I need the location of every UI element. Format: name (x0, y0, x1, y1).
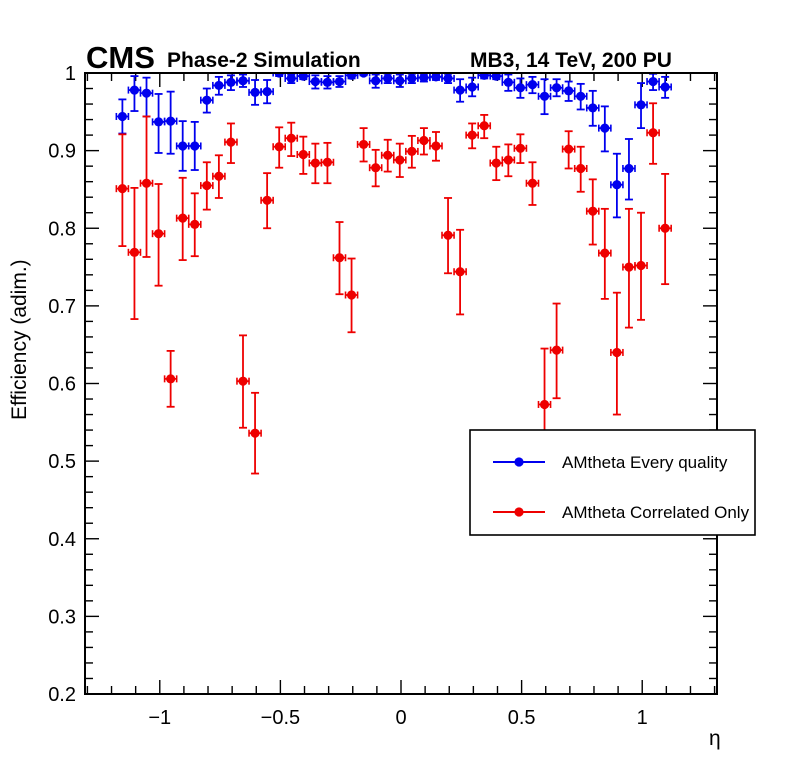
y-tick-label: 0.3 (48, 606, 76, 628)
data-point-marker (661, 82, 670, 91)
data-point-marker (371, 163, 380, 172)
data-point-marker (190, 141, 199, 150)
data-point-marker (407, 147, 416, 156)
data-point-marker (504, 78, 513, 87)
data-point-marker (468, 82, 477, 91)
plot-canvas: CMS Phase-2 Simulation MB3, 14 TeV, 200 … (0, 0, 796, 772)
data-point-marker (359, 140, 368, 149)
data-point-marker (600, 248, 609, 257)
data-point-marker (600, 124, 609, 133)
data-point-marker (383, 151, 392, 160)
data-point-marker (552, 83, 561, 92)
series-correlated-only (116, 103, 671, 473)
x-tick-label: 0.5 (508, 707, 536, 729)
cms-logo-text: CMS (86, 40, 155, 75)
legend-marker-icon (514, 507, 523, 516)
data-point-marker (516, 83, 525, 92)
data-point-marker (202, 96, 211, 105)
data-point-marker (528, 80, 537, 89)
x-tick-label: 0 (395, 707, 406, 729)
data-point-marker (154, 117, 163, 126)
data-point-marker (516, 144, 525, 153)
data-point-marker (166, 374, 175, 383)
y-tick-label: 0.4 (48, 529, 76, 551)
data-point-marker (564, 86, 573, 95)
data-point-marker (624, 262, 633, 271)
data-point-marker (395, 155, 404, 164)
x-axis-tick-labels: −1−0.500.51 (148, 707, 647, 729)
data-point-marker (395, 76, 404, 85)
data-point-marker (492, 158, 501, 167)
data-point-marker (648, 77, 657, 86)
data-point-marker (214, 81, 223, 90)
data-point-marker (636, 100, 645, 109)
data-point-marker (178, 141, 187, 150)
legend[interactable]: AMtheta Every qualityAMtheta Correlated … (470, 430, 755, 535)
data-point-marker (624, 164, 633, 173)
y-axis-tick-labels: 0.20.30.40.50.60.70.80.91 (48, 63, 76, 706)
y-tick-label: 0.6 (48, 374, 76, 396)
data-point-marker (455, 85, 464, 94)
data-point-marker (323, 158, 332, 167)
data-point-marker (287, 74, 296, 83)
data-point-marker (576, 92, 585, 101)
data-point-marker (178, 214, 187, 223)
data-point-marker (661, 224, 670, 233)
data-point-marker (130, 85, 139, 94)
data-point-marker (142, 179, 151, 188)
data-point-marker (564, 144, 573, 153)
data-point-marker (636, 261, 645, 270)
data-point-marker (504, 155, 513, 164)
data-point-marker (166, 117, 175, 126)
data-point-marker (202, 181, 211, 190)
x-tick-label: −1 (148, 707, 171, 729)
data-point-marker (443, 231, 452, 240)
data-series-layer (116, 68, 671, 473)
data-point-marker (142, 89, 151, 98)
data-point-marker (540, 400, 549, 409)
data-point-marker (118, 184, 127, 193)
y-axis-title: Efficiency (adim.) (8, 259, 31, 420)
legend-marker-icon (514, 457, 523, 466)
data-point-marker (154, 229, 163, 238)
data-point-marker (383, 74, 392, 83)
data-point-marker (323, 78, 332, 87)
y-tick-label: 0.7 (48, 296, 76, 318)
x-axis-ticks (87, 73, 714, 694)
data-point-marker (238, 377, 247, 386)
legend-label: AMtheta Correlated Only (562, 503, 750, 522)
data-point-marker (299, 150, 308, 159)
data-point-marker (335, 77, 344, 86)
data-point-marker (190, 220, 199, 229)
data-point-marker (371, 76, 380, 85)
data-point-marker (263, 196, 272, 205)
y-tick-label: 0.9 (48, 141, 76, 163)
data-point-marker (287, 134, 296, 143)
series-every-quality (116, 68, 671, 217)
data-point-marker (347, 290, 356, 299)
data-point-marker (576, 164, 585, 173)
cms-sublabel-text: Phase-2 Simulation (167, 49, 361, 72)
data-point-marker (311, 77, 320, 86)
data-point-marker (130, 248, 139, 257)
efficiency-scatter-plot: CMS Phase-2 Simulation MB3, 14 TeV, 200 … (0, 0, 796, 772)
y-tick-label: 0.2 (48, 684, 76, 706)
data-point-marker (468, 131, 477, 140)
data-point-marker (480, 121, 489, 130)
data-point-marker (250, 88, 259, 97)
data-point-marker (528, 179, 537, 188)
data-point-marker (226, 137, 235, 146)
data-point-marker (275, 142, 284, 151)
data-point-marker (250, 429, 259, 438)
data-point-marker (552, 346, 561, 355)
data-point-marker (238, 76, 247, 85)
y-tick-label: 0.5 (48, 451, 76, 473)
data-point-marker (311, 158, 320, 167)
x-tick-label: −0.5 (261, 707, 300, 729)
data-point-marker (407, 74, 416, 83)
data-point-marker (588, 103, 597, 112)
x-tick-label: 1 (637, 707, 648, 729)
data-point-marker (335, 253, 344, 262)
data-point-marker (612, 348, 621, 357)
y-tick-label: 1 (65, 63, 76, 85)
data-point-marker (648, 128, 657, 137)
data-point-marker (588, 207, 597, 216)
data-point-marker (226, 78, 235, 87)
data-point-marker (540, 92, 549, 101)
data-point-marker (431, 141, 440, 150)
data-point-marker (214, 172, 223, 181)
data-point-marker (612, 180, 621, 189)
data-point-marker (443, 74, 452, 83)
legend-label: AMtheta Every quality (562, 453, 728, 472)
data-point-marker (419, 136, 428, 145)
data-point-marker (263, 87, 272, 96)
data-point-marker (455, 267, 464, 276)
data-point-marker (118, 112, 127, 121)
data-point-marker (419, 73, 428, 82)
dataset-condition-text: MB3, 14 TeV, 200 PU (470, 49, 672, 72)
y-tick-label: 0.8 (48, 218, 76, 240)
x-axis-title: η (709, 727, 721, 750)
